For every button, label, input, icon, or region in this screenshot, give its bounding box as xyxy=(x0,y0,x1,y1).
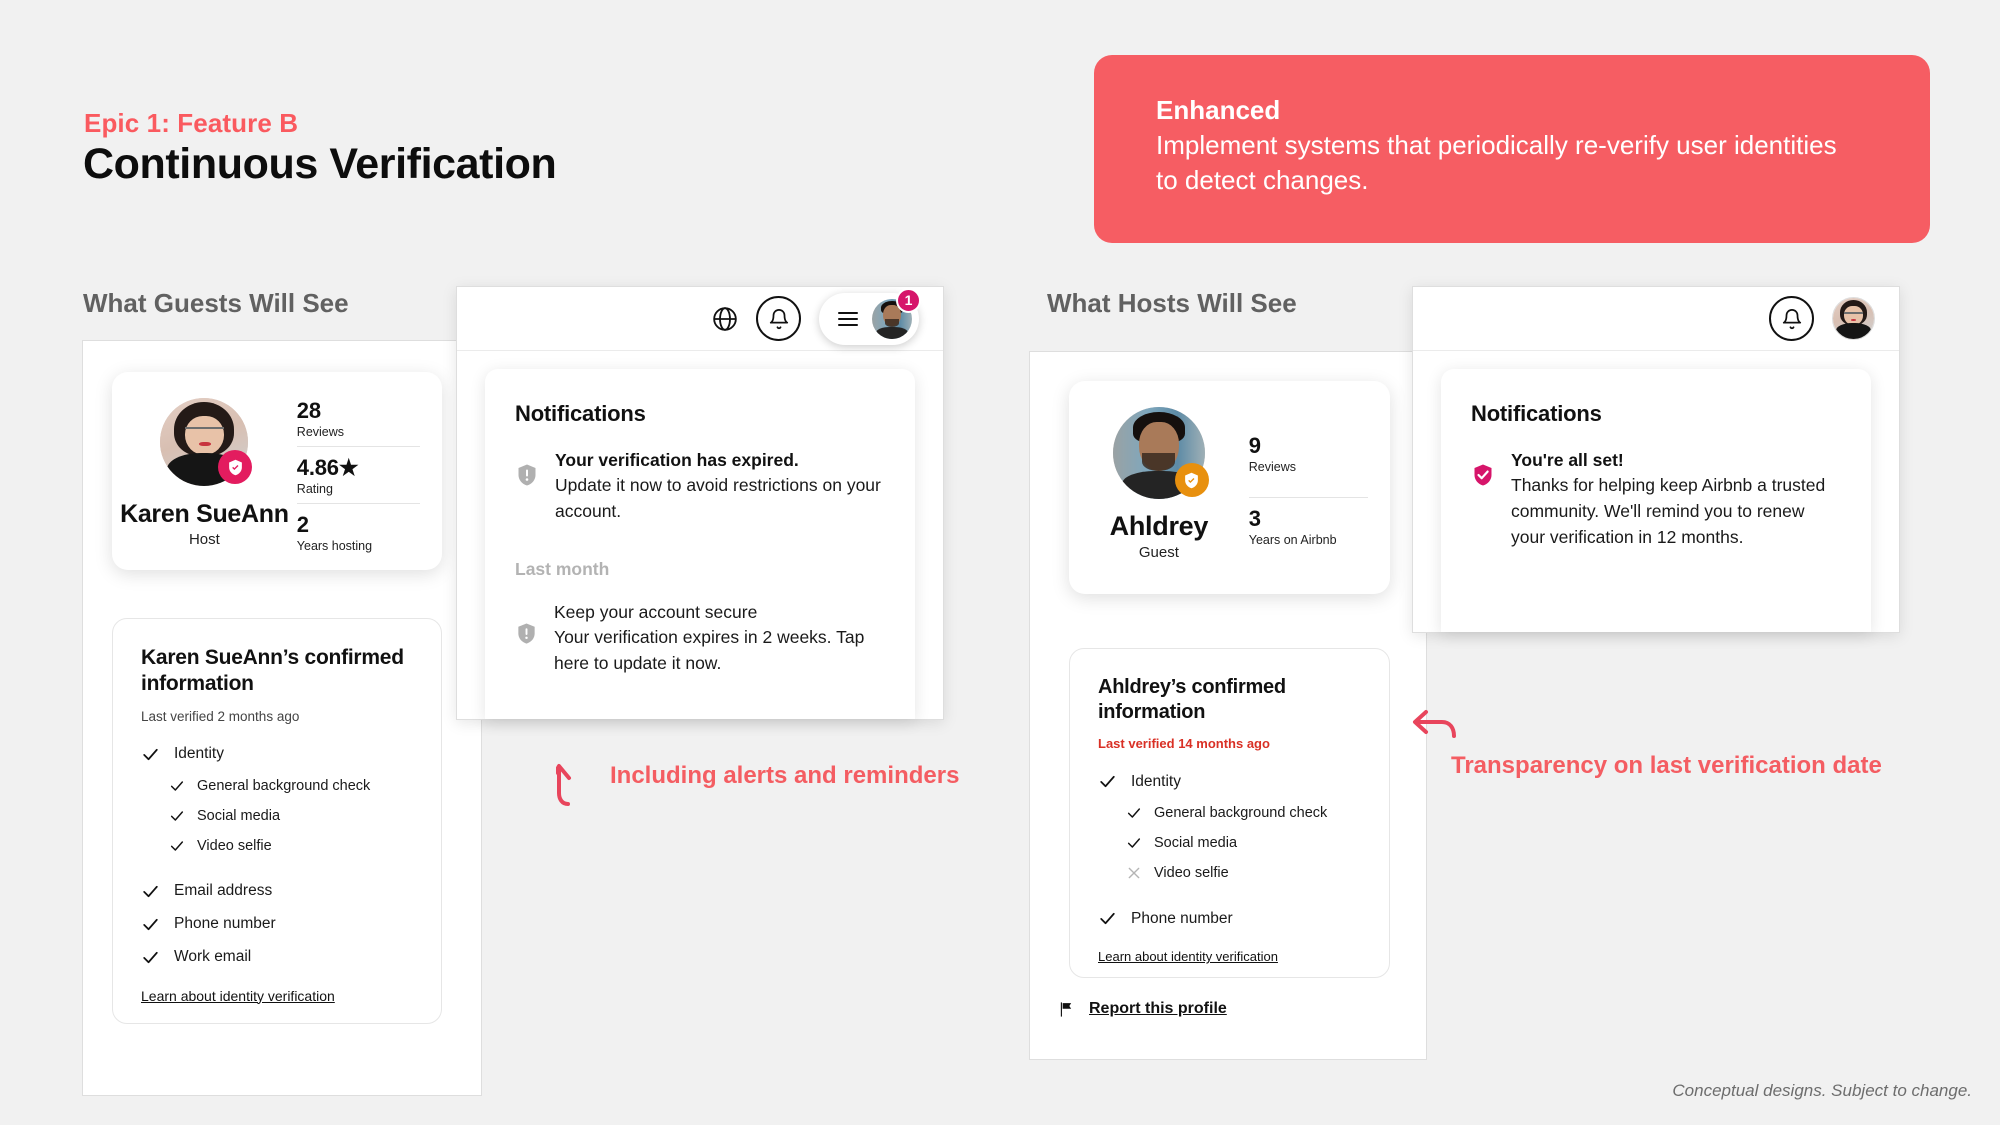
report-profile-row[interactable]: Report this profile xyxy=(1058,1000,1227,1018)
notification-item[interactable]: You're all set! Thanks for helping keep … xyxy=(1471,447,1841,550)
check-icon xyxy=(141,745,160,764)
checklist-label: Email address xyxy=(174,882,272,900)
checklist-label: Video selfie xyxy=(1154,865,1229,881)
report-this-profile-link[interactable]: Report this profile xyxy=(1089,1000,1227,1018)
checklist-label: Identity xyxy=(1131,773,1181,791)
stat-label: Years hosting xyxy=(297,539,420,553)
checklist-item: Video selfie xyxy=(141,831,413,861)
notification-body: Update it now to avoid restrictions on y… xyxy=(555,473,885,524)
stat-item: 28 Reviews xyxy=(297,398,420,446)
slide-canvas: Epic 1: Feature B Continuous Verificatio… xyxy=(0,0,2000,1125)
host-profile-name: Ahldrey xyxy=(1110,511,1208,542)
stat-label: Years on Airbnb xyxy=(1249,533,1368,547)
host-confirmed-info-card: Ahldrey’s confirmed information Last ver… xyxy=(1069,648,1390,978)
avatar xyxy=(1113,407,1205,499)
check-icon xyxy=(169,838,185,854)
checklist-label: General background check xyxy=(1154,805,1327,821)
stat-item: 3 Years on Airbnb xyxy=(1249,497,1368,554)
footer-disclaimer: Conceptual designs. Subject to change. xyxy=(1672,1081,1972,1101)
stat-item: 2 Years hosting xyxy=(297,503,420,560)
check-icon xyxy=(1098,909,1117,928)
checklist-item: Phone number xyxy=(141,908,413,941)
checklist-item: Video selfie xyxy=(1098,858,1361,888)
checklist-label: Video selfie xyxy=(197,838,272,854)
notification-count-badge: 1 xyxy=(896,288,921,313)
last-verified-text: Last verified 2 months ago xyxy=(141,709,413,724)
stat-item: 4.86★ Rating xyxy=(297,446,420,503)
stat-value: 2 xyxy=(297,512,420,538)
stat-label: Rating xyxy=(297,482,420,496)
profile-menu-button[interactable]: 1 xyxy=(819,293,919,345)
learn-about-identity-verification-link[interactable]: Learn about identity verification xyxy=(141,988,335,1004)
flag-icon xyxy=(1058,1001,1075,1018)
host-profile-role: Guest xyxy=(1139,544,1179,561)
notifications-title: Notifications xyxy=(515,401,885,427)
verification-checklist: Identity General background check Social… xyxy=(141,738,413,974)
notification-item[interactable]: Keep your account secure Your verificati… xyxy=(515,600,885,677)
notification-body: Your verification expires in 2 weeks. Ta… xyxy=(554,625,885,676)
checklist-label: Social media xyxy=(197,808,280,824)
arrow-up-icon xyxy=(556,762,590,806)
checklist-label: Identity xyxy=(174,745,224,763)
notifications-title: Notifications xyxy=(1471,401,1841,427)
guest-profile-card: Karen SueAnn Host 28 Reviews 4.86★ Ratin… xyxy=(112,372,442,570)
stat-value: 28 xyxy=(297,398,420,424)
info-card-title: Ahldrey’s confirmed information xyxy=(1098,675,1361,725)
guest-profile-name: Karen SueAnn xyxy=(120,500,289,529)
stat-label: Reviews xyxy=(1249,460,1368,474)
annotation-transparency: Transparency on last verification date xyxy=(1412,708,1882,781)
checklist-label: Phone number xyxy=(174,915,276,933)
check-icon xyxy=(169,778,185,794)
checklist-item: Identity xyxy=(1098,765,1361,798)
check-icon xyxy=(1098,772,1117,791)
check-icon xyxy=(1126,805,1142,821)
notification-body: Thanks for helping keep Airbnb a trusted… xyxy=(1511,473,1841,550)
checklist-item: Email address xyxy=(141,875,413,908)
verified-shield-badge-icon xyxy=(1175,463,1209,497)
epic-eyebrow: Epic 1: Feature B xyxy=(84,108,298,139)
notification-headline: Your verification has expired. xyxy=(555,447,885,473)
stat-item: 9 Reviews xyxy=(1249,433,1368,481)
checklist-item: Work email xyxy=(141,941,413,974)
arrow-left-icon xyxy=(1412,708,1456,740)
notifications-bell-button[interactable] xyxy=(1769,296,1814,341)
guest-profile-role: Host xyxy=(189,531,220,548)
globe-icon[interactable] xyxy=(712,306,738,332)
check-icon xyxy=(141,948,160,967)
callout-body: Implement systems that periodically re-v… xyxy=(1156,128,1856,199)
guest-nav-bar: 1 xyxy=(457,287,943,351)
host-profile-card: Ahldrey Guest 9 Reviews 3 Years on Airbn… xyxy=(1069,381,1390,594)
user-avatar[interactable] xyxy=(1832,297,1875,340)
callout-title: Enhanced xyxy=(1156,93,1872,128)
stat-value: 3 xyxy=(1249,506,1368,532)
hamburger-menu-icon[interactable] xyxy=(838,312,858,326)
enhanced-callout: Enhanced Implement systems that periodic… xyxy=(1094,55,1930,243)
notification-headline: Keep your account secure xyxy=(554,600,885,626)
annotation-transparency-text: Transparency on last verification date xyxy=(1451,750,1882,781)
shield-alert-icon xyxy=(515,622,538,645)
shield-check-icon xyxy=(1471,463,1495,487)
guest-notifications-card: Notifications Your verification has expi… xyxy=(485,369,915,719)
check-icon xyxy=(141,882,160,901)
host-nav-bar xyxy=(1413,287,1899,351)
checklist-item: Social media xyxy=(141,801,413,831)
checklist-item: Identity xyxy=(141,738,413,771)
checklist-item: Social media xyxy=(1098,828,1361,858)
notification-item[interactable]: Your verification has expired. Update it… xyxy=(515,447,885,525)
host-notifications-card: Notifications You're all set! Thanks for… xyxy=(1441,369,1871,632)
notifications-section-label: Last month xyxy=(515,559,885,580)
bell-icon xyxy=(1781,308,1803,330)
annotation-alerts-text: Including alerts and reminders xyxy=(610,760,959,791)
checklist-label: Social media xyxy=(1154,835,1237,851)
stat-value: 4.86★ xyxy=(297,455,420,481)
checklist-label: Phone number xyxy=(1131,910,1233,928)
learn-about-identity-verification-link[interactable]: Learn about identity verification xyxy=(1098,949,1278,964)
checklist-label: General background check xyxy=(197,778,370,794)
info-card-title: Karen SueAnn’s confirmed information xyxy=(141,645,413,698)
host-notifications-frame: Notifications You're all set! Thanks for… xyxy=(1412,286,1900,633)
notification-headline: You're all set! xyxy=(1511,447,1841,473)
avatar xyxy=(160,398,248,486)
bell-icon xyxy=(768,308,790,330)
checklist-item: General background check xyxy=(1098,798,1361,828)
stat-label: Reviews xyxy=(297,425,420,439)
check-icon xyxy=(169,808,185,824)
notifications-bell-button[interactable] xyxy=(756,296,801,341)
checklist-item: Phone number xyxy=(1098,902,1361,935)
page-title: Continuous Verification xyxy=(83,140,556,189)
checklist-item: General background check xyxy=(141,771,413,801)
shield-alert-icon xyxy=(515,463,539,487)
checklist-label: Work email xyxy=(174,948,251,966)
check-icon xyxy=(141,915,160,934)
guest-confirmed-info-card: Karen SueAnn’s confirmed information Las… xyxy=(112,618,442,1024)
last-verified-text: Last verified 14 months ago xyxy=(1098,736,1361,751)
guest-notifications-frame: 1 Notifications Your verification has ex… xyxy=(456,286,944,720)
verification-checklist: Identity General background check Social… xyxy=(1098,765,1361,935)
section-label-guests: What Guests Will See xyxy=(83,288,349,319)
annotation-alerts: Including alerts and reminders xyxy=(556,760,959,806)
cross-icon xyxy=(1126,865,1142,881)
stat-value: 9 xyxy=(1249,433,1368,459)
section-label-hosts: What Hosts Will See xyxy=(1047,288,1297,319)
check-icon xyxy=(1126,835,1142,851)
